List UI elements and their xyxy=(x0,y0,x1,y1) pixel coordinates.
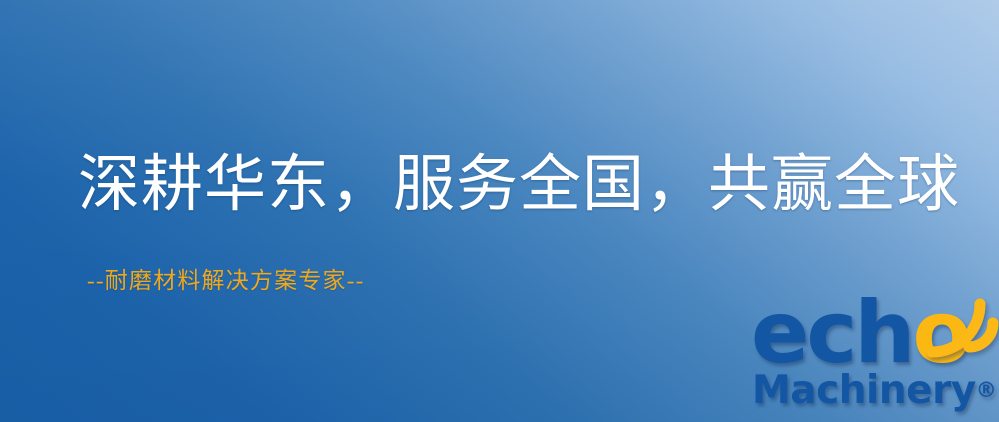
logo-tagline: Machinery® xyxy=(752,368,997,413)
company-logo[interactable]: echo Machinery® xyxy=(745,296,999,422)
registered-trademark-mark: ® xyxy=(976,378,997,402)
banner-subtitle: --耐磨材料解决方案专家-- xyxy=(87,266,364,296)
logo-tagline-text: Machinery xyxy=(752,368,976,413)
wifi-signal-arcs-icon xyxy=(920,292,999,364)
banner-headline: 深耕华东，服务全国，共赢全球 xyxy=(78,148,960,222)
hero-banner: 深耕华东，服务全国，共赢全球 --耐磨材料解决方案专家-- echo Machi… xyxy=(0,0,999,422)
